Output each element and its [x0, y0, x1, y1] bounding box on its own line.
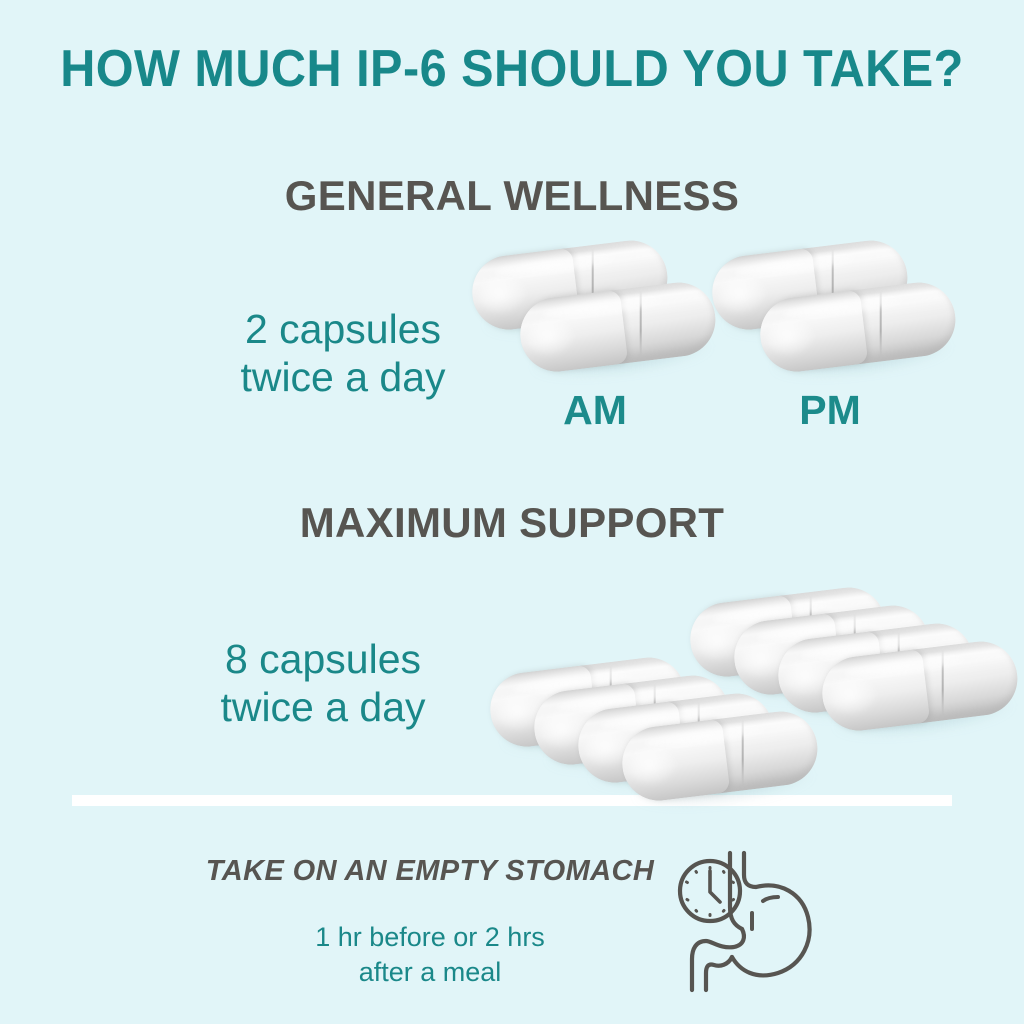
dose-line-2: twice a day: [128, 683, 518, 731]
section-heading-general-wellness: GENERAL WELLNESS: [0, 172, 1024, 220]
footer-sub-line-1: 1 hr before or 2 hrs: [200, 920, 660, 955]
duodenum: [706, 957, 732, 990]
footer-sub-line-2: after a meal: [200, 955, 660, 990]
dose-line-1: 8 capsules: [128, 635, 518, 683]
capsule-group-am: [472, 248, 722, 378]
section-divider: [72, 795, 952, 806]
capsule-group-pm: [712, 248, 962, 378]
section-heading-maximum-support: MAXIMUM SUPPORT: [0, 499, 1024, 547]
infographic-poster: HOW MUCH IP-6 SHOULD YOU TAKE? GENERAL W…: [0, 0, 1024, 1024]
time-label-am: AM: [500, 387, 690, 434]
dose-label-maximum-support: 8 capsules twice a day: [128, 635, 518, 732]
footer-heading-empty-stomach: TAKE ON AN EMPTY STOMACH: [180, 855, 680, 888]
stomach-fold-1: [763, 897, 778, 901]
esophagus-inner-wall: [744, 853, 756, 887]
time-label-pm: PM: [735, 387, 925, 434]
page-title: HOW MUCH IP-6 SHOULD YOU TAKE?: [33, 39, 990, 99]
stomach-lesser-curvature: [692, 929, 744, 990]
stomach-clock-icon: [668, 845, 848, 995]
clock-hands: [710, 871, 720, 902]
footer-subtext: 1 hr before or 2 hrs after a meal: [200, 920, 660, 990]
